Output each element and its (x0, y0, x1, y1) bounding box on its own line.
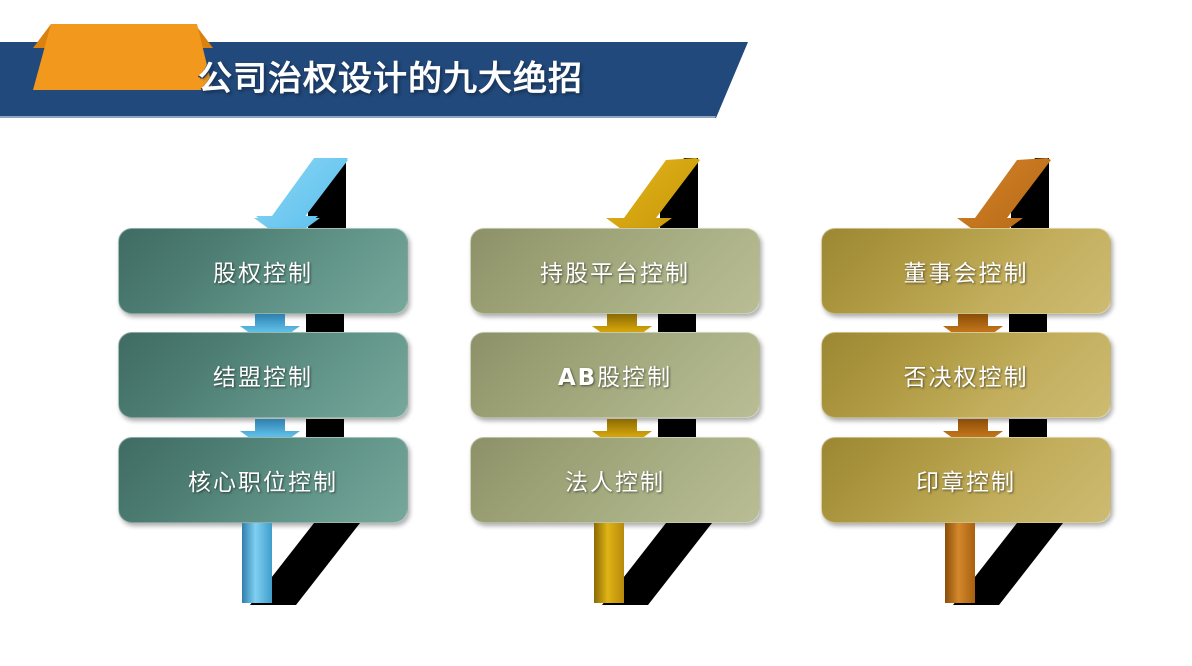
banner-bottom-edge (0, 116, 716, 118)
header-banner: 公司治权设计的九大绝招 (0, 0, 1192, 130)
flow-box-3-1[interactable]: 董事会控制 (821, 228, 1111, 314)
flow-box-1-1[interactable]: 股权控制 (118, 228, 408, 314)
flow-box-label: 股权控制 (213, 254, 313, 288)
flow-box-label: 印章控制 (916, 463, 1016, 497)
tail-bar-icon (242, 523, 272, 603)
tail-3 (813, 523, 1113, 613)
ribbon-orange-shape (33, 24, 213, 90)
page-title: 公司治权设计的九大绝招 (198, 46, 718, 112)
flow-column-3: 董事会控制 否决权控制 (813, 150, 1113, 610)
flow-box-label: 董事会控制 (904, 254, 1029, 288)
flow-box-label-rest: 股控制 (597, 365, 672, 390)
flow-box-label: 法人控制 (565, 463, 665, 497)
flow-box-label: 持股平台控制 (540, 254, 690, 288)
flow-box-label: AB股控制 (558, 358, 672, 392)
flow-box-3-3[interactable]: 印章控制 (821, 437, 1111, 523)
flow-box-label: 核心职位控制 (188, 463, 338, 497)
tail-bar-icon (594, 523, 624, 603)
flow-column-2: 持股平台控制 AB股控制 (462, 150, 762, 610)
slide-canvas: 公司治权设计的九大绝招 股权控制 (0, 0, 1192, 666)
flow-box-2-2[interactable]: AB股控制 (470, 332, 760, 418)
flow-box-1-2[interactable]: 结盟控制 (118, 332, 408, 418)
flow-box-1-3[interactable]: 核心职位控制 (118, 437, 408, 523)
flow-box-label: 结盟控制 (213, 358, 313, 392)
flow-column-1: 股权控制 结盟控制 (110, 150, 410, 610)
tail-2 (462, 523, 762, 613)
flow-box-2-1[interactable]: 持股平台控制 (470, 228, 760, 314)
tail-bar-icon (945, 523, 975, 603)
flow-box-3-2[interactable]: 否决权控制 (821, 332, 1111, 418)
flow-box-label-prefix: AB (558, 365, 597, 391)
tail-1 (110, 523, 410, 613)
flow-box-label: 否决权控制 (904, 358, 1029, 392)
flow-box-2-3[interactable]: 法人控制 (470, 437, 760, 523)
